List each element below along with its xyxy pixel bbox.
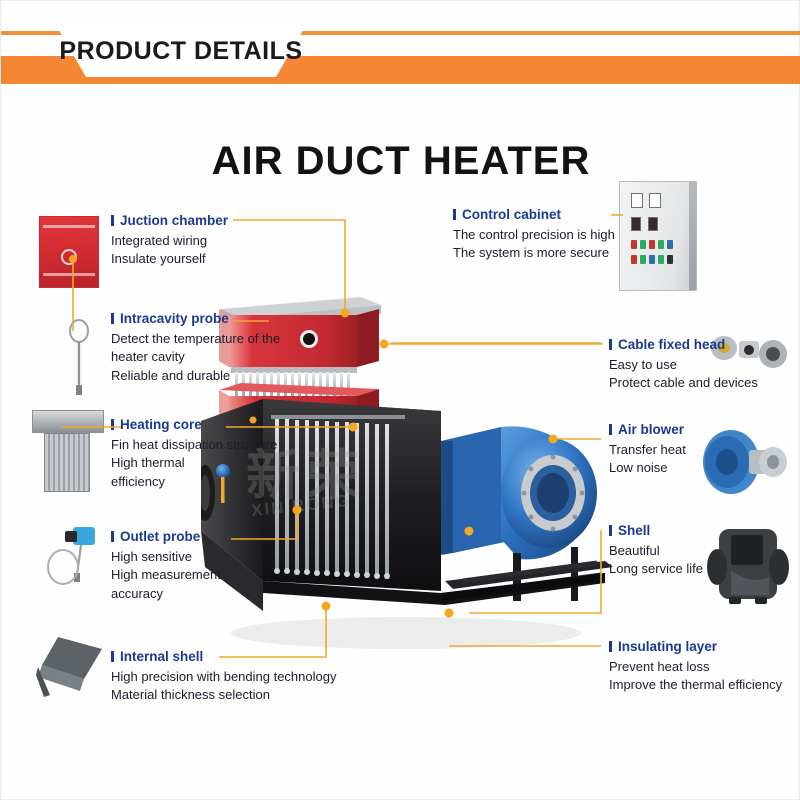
callout-title: Outlet probe — [111, 529, 291, 544]
bullet-marker — [111, 419, 114, 430]
callout-cable-fixed-head: Cable fixed head Easy to use Protect cab… — [609, 337, 789, 393]
bullet-marker — [609, 339, 612, 350]
callout-body: The control precision is high The system… — [453, 226, 633, 263]
bullet-marker — [453, 209, 456, 220]
callout-body: High precision with bending technology M… — [111, 668, 361, 705]
callout-title-text: Heating core — [120, 417, 202, 432]
product-details-page: PRODUCT DETAILS AIR DUCT HEATER — [0, 0, 800, 800]
page-title: AIR DUCT HEATER — [1, 139, 800, 184]
callout-title: Control cabinet — [453, 207, 633, 222]
callout-body: Prevent heat loss Improve the thermal ef… — [609, 658, 800, 695]
callout-title: Air blower — [609, 422, 759, 437]
callout-insulating-layer: Insulating layer Prevent heat loss Impro… — [609, 639, 800, 695]
callout-shell: Shell Beautiful Long service life — [609, 523, 759, 579]
callout-body: Fin heat dissipation structure High ther… — [111, 436, 291, 491]
callout-title-text: Intracavity probe — [120, 311, 229, 326]
callout-control-cabinet: Control cabinet The control precision is… — [453, 207, 633, 263]
callout-title-text: Shell — [618, 523, 650, 538]
callout-title: Heating core — [111, 417, 291, 432]
header-banner-label: PRODUCT DETAILS — [56, 31, 306, 71]
callout-juction-chamber: Juction chamber Integrated wiring Insula… — [111, 213, 261, 269]
bullet-marker — [111, 531, 114, 542]
bullet-marker — [609, 641, 612, 652]
callout-body: Transfer heat Low noise — [609, 441, 759, 478]
callout-body: Beautiful Long service life — [609, 542, 759, 579]
callout-title-text: Internal shell — [120, 649, 203, 664]
callout-intracavity-probe: Intracavity probe Detect the temperature… — [111, 311, 301, 385]
callout-title: Juction chamber — [111, 213, 261, 228]
callout-body: High sensitive High measurement accuracy — [111, 548, 291, 603]
callout-title: Intracavity probe — [111, 311, 301, 326]
callout-title: Cable fixed head — [609, 337, 789, 352]
callout-internal-shell: Internal shell High precision with bendi… — [111, 649, 361, 705]
bullet-marker — [609, 525, 612, 536]
callout-title-text: Control cabinet — [462, 207, 561, 222]
callout-title-text: Insulating layer — [618, 639, 717, 654]
outlet-probe-photo — [41, 521, 105, 599]
callout-body: Detect the temperature of the heater cav… — [111, 330, 301, 385]
callout-title-text: Outlet probe — [120, 529, 200, 544]
callout-body: Integrated wiring Insulate yourself — [111, 232, 261, 269]
callout-title-text: Juction chamber — [120, 213, 228, 228]
callout-title: Shell — [609, 523, 759, 538]
intracavity-probe-photo — [59, 319, 99, 397]
callout-outlet-probe: Outlet probe High sensitive High measure… — [111, 529, 291, 603]
bullet-marker — [111, 313, 114, 324]
bullet-marker — [111, 651, 114, 662]
callout-title: Insulating layer — [609, 639, 800, 654]
bullet-marker — [609, 424, 612, 435]
junction-chamber-photo — [39, 216, 99, 288]
callout-air-blower: Air blower Transfer heat Low noise — [609, 422, 759, 478]
bullet-marker — [111, 215, 114, 226]
callout-title-text: Cable fixed head — [618, 337, 725, 352]
internal-shell-photo — [36, 631, 108, 701]
callout-heating-core: Heating core Fin heat dissipation struct… — [111, 417, 291, 491]
heating-core-photo — [31, 406, 105, 496]
callout-title-text: Air blower — [618, 422, 684, 437]
callout-body: Easy to use Protect cable and devices — [609, 356, 789, 393]
callout-title: Internal shell — [111, 649, 361, 664]
